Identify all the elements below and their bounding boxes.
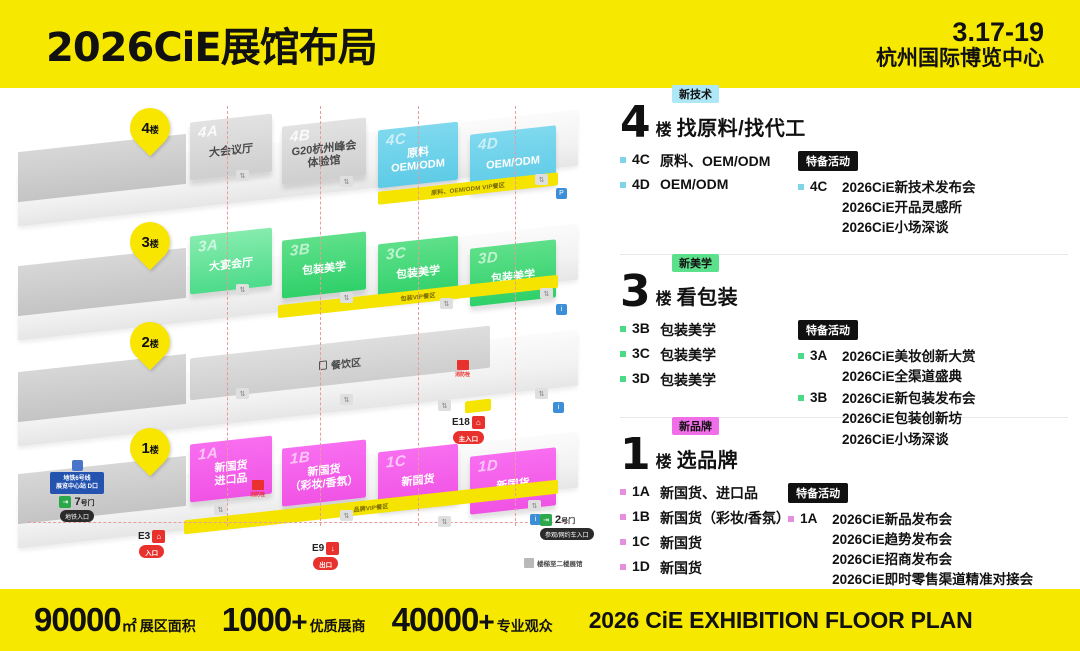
list-item[interactable]: 4C 原料、OEM/ODM: [620, 151, 798, 171]
gate-E18[interactable]: E18 ⌂ 主入口: [452, 416, 485, 444]
entrance-icon: ⌂: [152, 530, 165, 543]
hall-3B[interactable]: 3B 包装美学: [282, 231, 366, 298]
gate-E9[interactable]: E9 ↓ 出口: [312, 542, 339, 570]
guide-line: [227, 106, 228, 526]
section-tag: 新技术: [672, 85, 719, 103]
floor-plan-poster: 2026CiE展馆布局 3.17-19 杭州国际博览中心 4楼 4A 大会议厅 …: [0, 0, 1080, 651]
isometric-floor-map: 4楼 4A 大会议厅 4B G20杭州峰会 体验馆 4C 原料 OEM/ODM …: [0, 88, 610, 589]
stat-visitors: 40000 + 专业观众: [392, 601, 553, 639]
bullet-icon: [620, 351, 626, 357]
stairs-icon: [524, 558, 534, 568]
page-title: 2026CiE展馆布局: [46, 15, 377, 73]
activity-badge: 特备活动: [788, 483, 848, 503]
escalator-icon: ⇅: [236, 170, 249, 181]
event-date: 3.17-19: [876, 17, 1044, 47]
section-heading: 4 楼 找原料/找代工 新技术: [620, 104, 1068, 142]
metro-icon: [72, 460, 83, 471]
bullet-icon: [798, 353, 804, 359]
header-event-info: 3.17-19 杭州国际博览中心: [876, 17, 1044, 71]
event-venue: 杭州国际博览中心: [876, 47, 1044, 71]
bullet-icon: [620, 157, 626, 163]
bullet-icon: [798, 395, 804, 401]
floor-4-map: 4楼 4A 大会议厅 4B G20杭州峰会 体验馆 4C 原料 OEM/ODM …: [0, 96, 610, 224]
stat-area: 90000 ㎡ 展区面积: [34, 601, 196, 639]
hall-list: 4C 原料、OEM/ODM 4D OEM/ODM: [620, 151, 798, 242]
bullet-icon: [798, 184, 804, 190]
legend-section-floor-3: 3 楼 看包装 新美学 3B 包装美学 3C 包装美学: [620, 255, 1068, 417]
activity-group[interactable]: 3A 2026CiE美妆创新大赏 2026CiE全渠道盛典: [798, 348, 1068, 386]
bullet-icon: [788, 516, 794, 522]
bullet-icon: [620, 539, 626, 545]
door-icon: ⇥: [540, 514, 552, 526]
escalator-icon: ⇅: [535, 174, 548, 185]
list-item[interactable]: 1D 新国货: [620, 558, 788, 578]
info-point-icon: i: [553, 402, 564, 413]
entrance-icon: ⌂: [472, 416, 485, 429]
exit-icon: ↓: [326, 542, 339, 555]
list-item[interactable]: 1C 新国货: [620, 533, 788, 553]
activity-badge: 特备活动: [798, 320, 858, 340]
hall-3A[interactable]: 3A 大宴会厅: [190, 228, 272, 295]
poster-footer: 90000 ㎡ 展区面积 1000 + 优质展商 40000 + 专业观众 20…: [0, 589, 1080, 651]
escalator-icon: ⇅: [438, 400, 451, 411]
escalator-icon: ⇅: [340, 510, 353, 521]
gate-E3[interactable]: E3 ⌂ 入口: [138, 530, 165, 558]
section-tag: 新美学: [672, 254, 719, 272]
floor-pin-3: 3楼: [130, 222, 170, 268]
stair-to-floor2-tag: 楼梯至二楼展馆: [524, 558, 583, 568]
legend-section-floor-4: 4 楼 找原料/找代工 新技术 4C 原料、OEM/ODM 4D OEM/ODM: [620, 104, 1068, 254]
escalator-icon: ⇅: [528, 500, 541, 511]
escalator-icon: ⇅: [236, 388, 249, 399]
section-heading: 1 楼 选品牌 新品牌: [620, 436, 1068, 474]
bullet-icon: [620, 326, 626, 332]
bullet-icon: [620, 489, 626, 495]
escalator-icon: ⇅: [340, 292, 353, 303]
stat-exhibitors: 1000 + 优质展商: [222, 601, 366, 639]
info-point-icon: i: [556, 304, 567, 315]
section-tag: 新品牌: [672, 417, 719, 435]
metro-gate-row: ⇥ 7号门: [59, 496, 94, 508]
list-item[interactable]: 1A 新国货、进口品: [620, 483, 788, 503]
escalator-icon: ⇅: [438, 516, 451, 527]
list-item[interactable]: 3B 包装美学: [620, 320, 798, 340]
metro-entrance-tag[interactable]: 地铁6号线 展览中心站 D口 ⇥ 7号门 地铁入口: [50, 460, 104, 522]
poster-header: 2026CiE展馆布局 3.17-19 杭州国际博览中心: [0, 0, 1080, 88]
activity-badge: 特备活动: [798, 151, 858, 171]
escalator-icon: ⇅: [535, 388, 548, 399]
bullet-icon: [620, 564, 626, 570]
escalator-icon: ⇅: [340, 176, 353, 187]
footer-english-title: 2026 CiE EXHIBITION FLOOR PLAN: [589, 607, 973, 634]
escalator-icon: ⇅: [214, 504, 227, 515]
hall-4B[interactable]: 4B G20杭州峰会 体验馆: [282, 117, 366, 184]
guide-line: [515, 106, 516, 526]
bullet-icon: [620, 182, 626, 188]
guide-line: [320, 106, 321, 526]
entrance-canopy: [465, 399, 491, 414]
list-item[interactable]: 3C 包装美学: [620, 345, 798, 365]
door-2-tag[interactable]: ⇥ 2号门 参观/网约车入口: [540, 514, 594, 540]
guide-line: [418, 106, 419, 526]
bullet-icon: [620, 376, 626, 382]
list-item[interactable]: 4D OEM/ODM: [620, 176, 798, 192]
floor-pin-4: 4楼: [130, 108, 170, 154]
floor-pin-2: 2楼: [130, 322, 170, 368]
info-point-icon: P: [556, 188, 567, 199]
list-item[interactable]: 1B 新国货（彩妆/香氛）: [620, 508, 788, 528]
door-icon: ⇥: [59, 496, 71, 508]
bullet-icon: [620, 514, 626, 520]
floor-pin-1: 1楼: [130, 428, 170, 474]
hall-4A[interactable]: 4A 大会议厅: [190, 114, 272, 181]
activity-group[interactable]: 4C 2026CiE新技术发布会 2026CiE开品灵感所 2026CiE小场深…: [798, 179, 1068, 238]
fire-hydrant-icon: 消防栓: [250, 480, 265, 498]
escalator-icon: ⇅: [440, 298, 453, 309]
activity-list: 特备活动 4C 2026CiE新技术发布会 2026CiE开品灵感所 2026C…: [798, 151, 1068, 242]
escalator-icon: ⇅: [236, 284, 249, 295]
guide-line: [28, 522, 568, 523]
escalator-icon: ⇅: [340, 394, 353, 405]
escalator-icon: ⇅: [540, 288, 553, 299]
floor-legend-panel: 4 楼 找原料/找代工 新技术 4C 原料、OEM/ODM 4D OEM/ODM: [620, 104, 1068, 582]
list-item[interactable]: 3D 包装美学: [620, 370, 798, 390]
hall-1B[interactable]: 1B 新国货 （彩妆/香氛）: [282, 439, 366, 506]
fire-hydrant-icon: 消防栓: [455, 360, 470, 378]
section-heading: 3 楼 看包装 新美学: [620, 273, 1068, 311]
metro-station-label: 地铁6号线 展览中心站 D口: [50, 472, 104, 494]
